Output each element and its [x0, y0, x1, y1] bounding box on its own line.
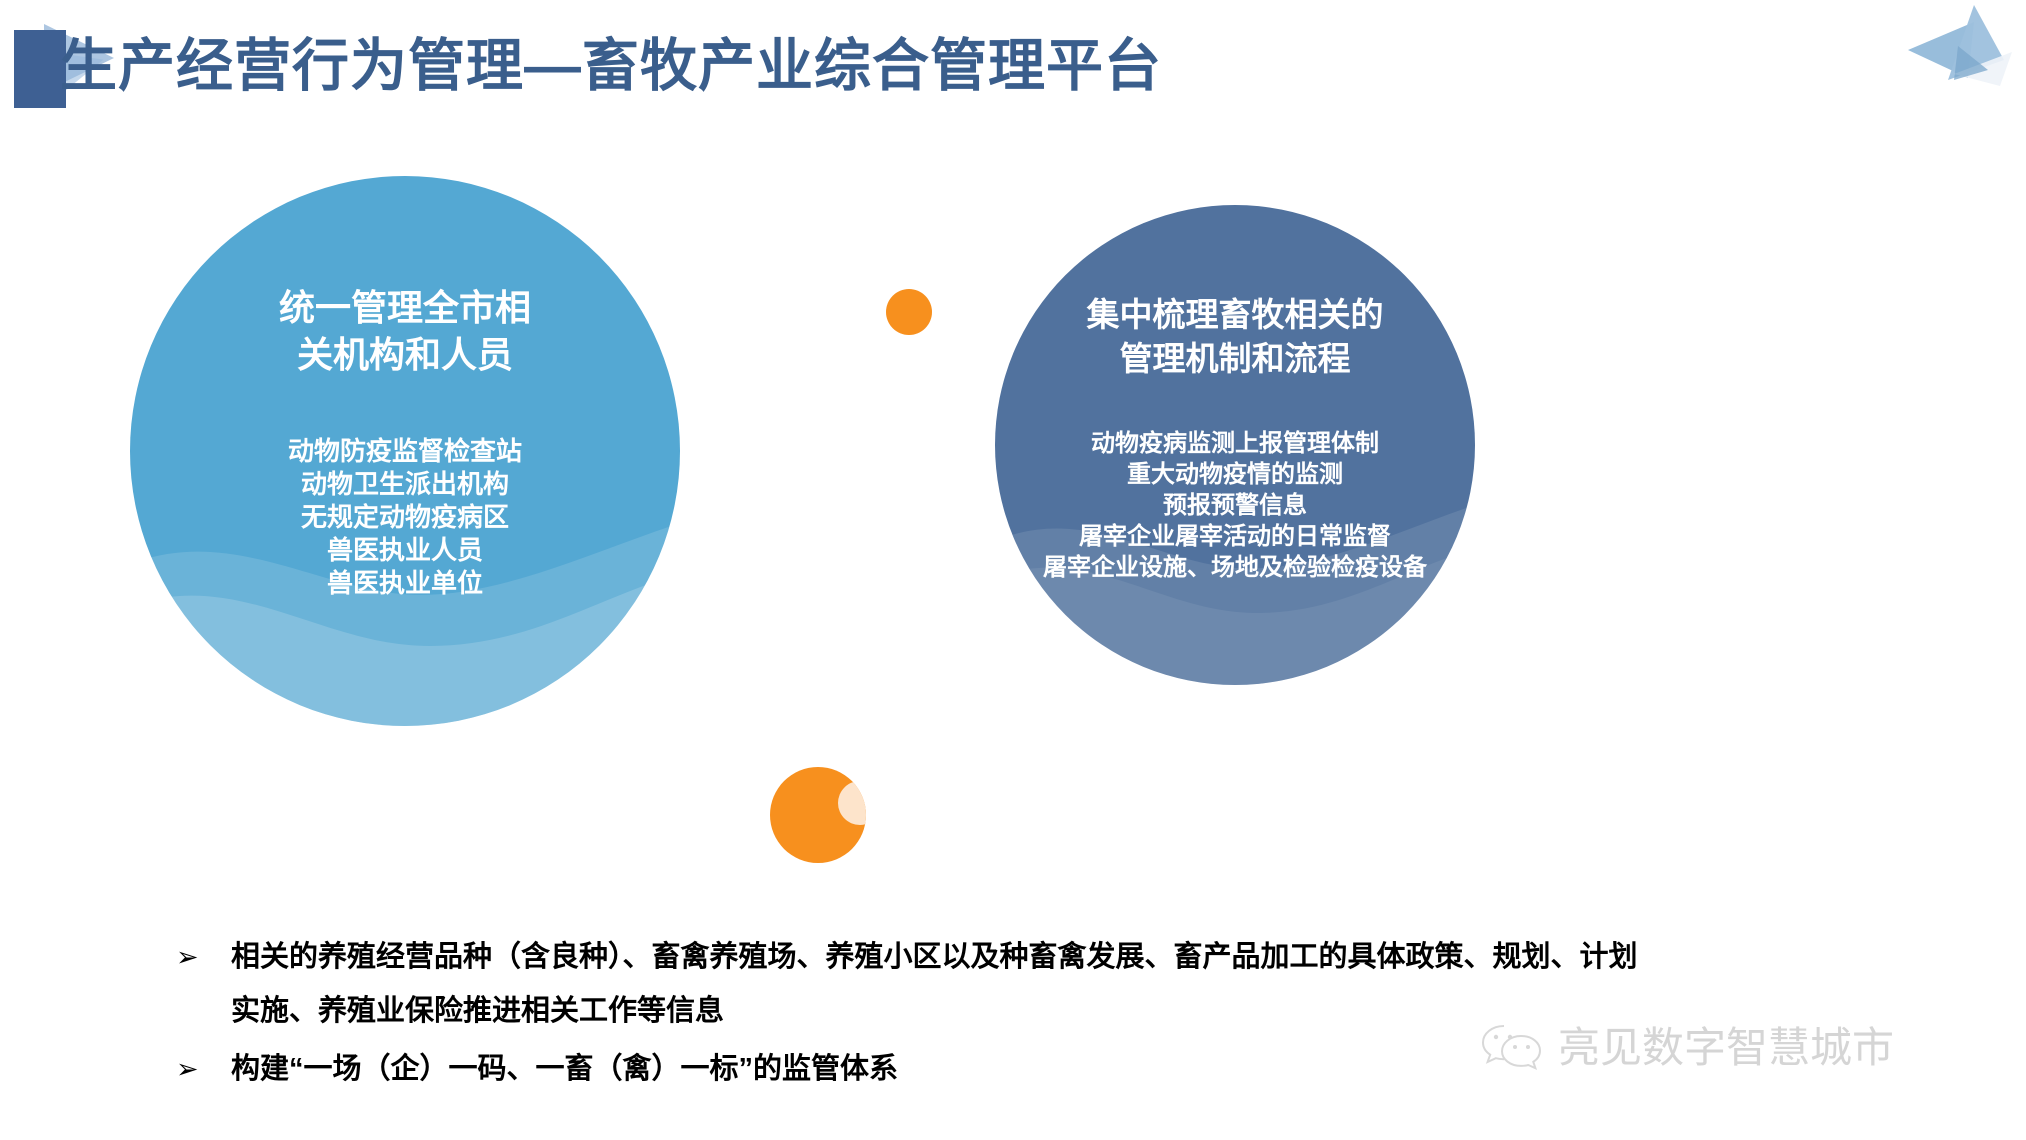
bullet-item-2-line-1: 构建“一场（企）一码、一畜（禽）一标”的监管体系 — [231, 1053, 898, 1085]
orange-accent-dot-small — [886, 289, 932, 335]
bubble-left-body-line-3: 无规定动物疫病区 — [288, 501, 522, 534]
bubble-left: 统一管理全市相 关机构和人员 动物防疫监督检查站 动物卫生派出机构 无规定动物疫… — [130, 176, 680, 726]
bubble-right-body-line-2: 重大动物疫情的监测 — [1043, 459, 1427, 490]
bubble-right-body-line-5: 屠宰企业设施、场地及检验检疫设备 — [1043, 552, 1427, 583]
bubble-left-body-line-1: 动物防疫监督检查站 — [288, 435, 522, 468]
title-accent-bar — [14, 30, 66, 108]
bullet-marker-icon: ➢ — [176, 1042, 231, 1096]
bubble-left-body: 动物防疫监督检查站 动物卫生派出机构 无规定动物疫病区 兽医执业人员 兽医执业单… — [288, 435, 522, 600]
bubble-left-body-line-2: 动物卫生派出机构 — [288, 468, 522, 501]
watermark: 亮见数字智慧城市 — [1480, 1022, 1894, 1074]
bullet-item-1-text: 相关的养殖经营品种（含良种）、畜禽养殖场、养殖小区以及种畜禽发展、畜产品加工的具… — [231, 930, 1638, 1038]
bubble-left-content: 统一管理全市相 关机构和人员 动物防疫监督检查站 动物卫生派出机构 无规定动物疫… — [130, 176, 680, 726]
bullet-item-2-text: 构建“一场（企）一码、一畜（禽）一标”的监管体系 — [231, 1042, 898, 1096]
bubble-right-body-line-1: 动物疫病监测上报管理体制 — [1043, 428, 1427, 459]
title-bar: 生产经营行为管理—畜牧产业综合管理平台 — [0, 0, 2026, 150]
bullet-list: ➢ 相关的养殖经营品种（含良种）、畜禽养殖场、养殖小区以及种畜禽发展、畜产品加工… — [176, 930, 1826, 1100]
bubble-left-body-line-4: 兽医执业人员 — [288, 534, 522, 567]
watermark-label: 亮见数字智慧城市 — [1558, 1023, 1894, 1073]
orange-accent-dot-large — [770, 767, 866, 863]
bullet-item-1-line-1: 相关的养殖经营品种（含良种）、畜禽养殖场、养殖小区以及种畜禽发展、畜产品加工的具… — [231, 941, 1638, 973]
bubble-right-content: 集中梳理畜牧相关的 管理机制和流程 动物疫病监测上报管理体制 重大动物疫情的监测… — [995, 205, 1475, 685]
corner-decoration — [1896, 0, 2026, 105]
bubble-right: 集中梳理畜牧相关的 管理机制和流程 动物疫病监测上报管理体制 重大动物疫情的监测… — [995, 205, 1475, 685]
bubble-left-heading-line-1: 统一管理全市相 — [279, 284, 531, 331]
bubble-left-body-line-5: 兽医执业单位 — [288, 567, 522, 600]
bubble-left-heading-line-2: 关机构和人员 — [279, 331, 531, 378]
bullet-item-1-line-2: 实施、养殖业保险推进相关工作等信息 — [231, 984, 1638, 1038]
wechat-icon — [1480, 1022, 1544, 1074]
bubble-right-body-line-4: 屠宰企业屠宰活动的日常监督 — [1043, 521, 1427, 552]
corner-triangles-icon — [1896, 0, 2026, 105]
bullet-marker-icon: ➢ — [176, 930, 231, 984]
bubble-right-heading-line-1: 集中梳理畜牧相关的 — [1087, 293, 1384, 337]
bubble-right-heading: 集中梳理畜牧相关的 管理机制和流程 — [1087, 293, 1384, 381]
bubble-right-body-line-3: 预报预警信息 — [1043, 490, 1427, 521]
bubble-left-heading: 统一管理全市相 关机构和人员 — [279, 284, 531, 378]
bubble-right-heading-line-2: 管理机制和流程 — [1087, 337, 1384, 381]
page-title: 生产经营行为管理—畜牧产业综合管理平台 — [60, 24, 1162, 108]
bubble-right-body: 动物疫病监测上报管理体制 重大动物疫情的监测 预报预警信息 屠宰企业屠宰活动的日… — [1043, 428, 1427, 583]
orange-accent-highlight — [838, 781, 866, 825]
